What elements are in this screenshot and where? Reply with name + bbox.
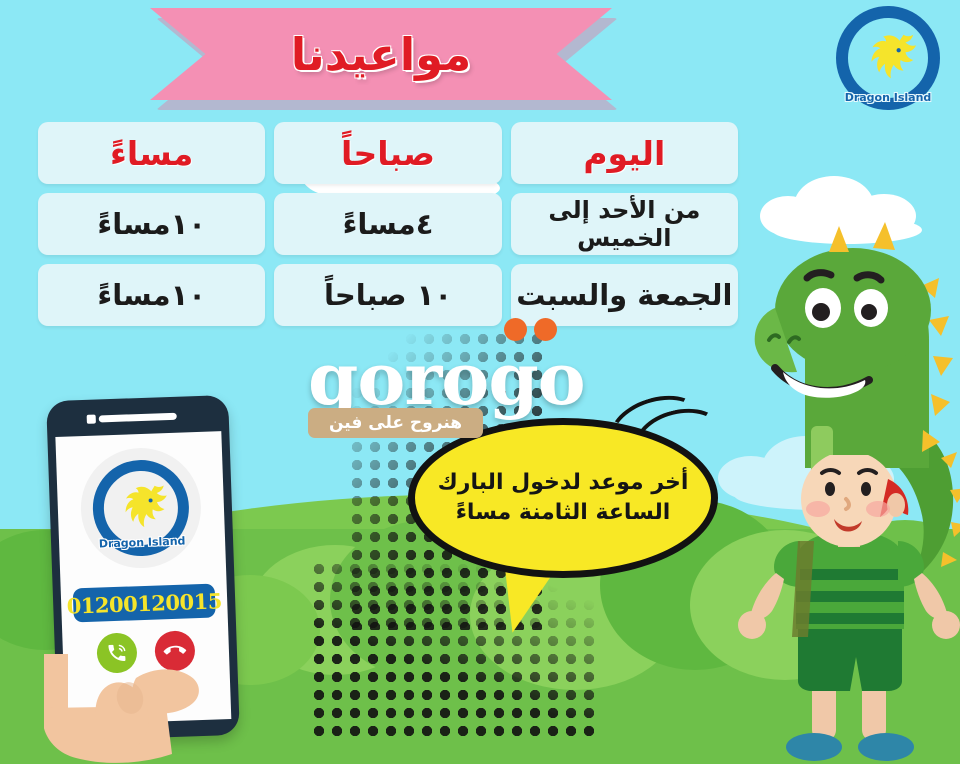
header-evening-label: مساءً xyxy=(110,134,193,173)
boy-character xyxy=(738,455,960,764)
table-row: من الأحد إلى الخميس ٤مساءً ١٠مساءً xyxy=(38,193,738,255)
brand-logo-corner: Dragon Island xyxy=(836,6,948,118)
phone-hangup-icon xyxy=(159,635,190,666)
row1-evening-value: ١٠مساءً xyxy=(97,278,206,312)
header-morning-label: صباحاً xyxy=(341,134,435,173)
logo-ring-phone: Dragon Island xyxy=(91,458,190,557)
call-actions xyxy=(62,629,229,675)
notice-line-2: الساعة الثامنة مساءً xyxy=(456,498,671,528)
watermark-tagline-badge: هنروح على فين xyxy=(308,408,483,438)
row0-morning-value: ٤مساءً xyxy=(343,207,434,241)
ribbon-shape: مواعيدنا xyxy=(150,8,612,100)
phone-screen: Dragon Island 01200120015 xyxy=(55,431,231,725)
watermark-tagline: هنروح على فين xyxy=(329,413,462,433)
header-day-label: اليوم xyxy=(583,134,665,173)
schedule-table: اليوم صباحاً مساءً من الأحد إلى الخميس ٤… xyxy=(38,122,738,326)
table-header-row: اليوم صباحاً مساءً xyxy=(38,122,738,184)
logo-brand-name-phone: Dragon Island xyxy=(99,535,186,551)
row1-morning-value: ١٠ صباحاً xyxy=(324,278,452,312)
row0-morning: ٤مساءً xyxy=(274,193,501,255)
header-evening: مساءً xyxy=(38,122,265,184)
phone-illustration: Dragon Island 01200120015 xyxy=(52,398,267,764)
table-row: الجمعة والسبت ١٠ صباحاً ١٠مساءً xyxy=(38,264,738,326)
phone-speaker xyxy=(99,413,177,423)
dragon-icon xyxy=(857,27,919,89)
logo-brand-name: Dragon Island xyxy=(845,91,932,104)
row0-evening: ١٠مساءً xyxy=(38,193,265,255)
phone-icon xyxy=(106,642,129,665)
dragon-icon xyxy=(111,478,171,538)
row0-day-value: من الأحد إلى الخميس xyxy=(511,196,738,252)
phone-number-value: 01200120015 xyxy=(66,588,222,618)
notice-line-1: أخر موعد لدخول البارك xyxy=(438,468,689,498)
phone-body: Dragon Island 01200120015 xyxy=(46,395,240,741)
header-day: اليوم xyxy=(511,122,738,184)
watermark-dot-2 xyxy=(534,318,557,341)
phone-number-badge: 01200120015 xyxy=(73,584,216,623)
poster-root: مواعيدنا Dragon Island اليوم صباحاً مساء… xyxy=(0,0,960,764)
brand-logo-phone: Dragon Island xyxy=(79,446,203,570)
row1-day: الجمعة والسبت xyxy=(511,264,738,326)
decline-call-button[interactable] xyxy=(154,630,195,671)
title-ribbon: مواعيدنا xyxy=(150,8,620,108)
row1-day-value: الجمعة والسبت xyxy=(516,278,732,312)
phone-camera-icon xyxy=(87,415,96,424)
logo-ring: Dragon Island xyxy=(836,6,940,110)
watermark: gorogo هنروح على فين xyxy=(308,336,648,446)
header-morning: صباحاً xyxy=(274,122,501,184)
accept-call-button[interactable] xyxy=(96,632,137,673)
watermark-dot-1 xyxy=(504,318,527,341)
page-title: مواعيدنا xyxy=(291,28,471,81)
row0-day: من الأحد إلى الخميس xyxy=(511,193,738,255)
row1-evening: ١٠مساءً xyxy=(38,264,265,326)
row0-evening-value: ١٠مساءً xyxy=(97,207,206,241)
row1-morning: ١٠ صباحاً xyxy=(274,264,501,326)
